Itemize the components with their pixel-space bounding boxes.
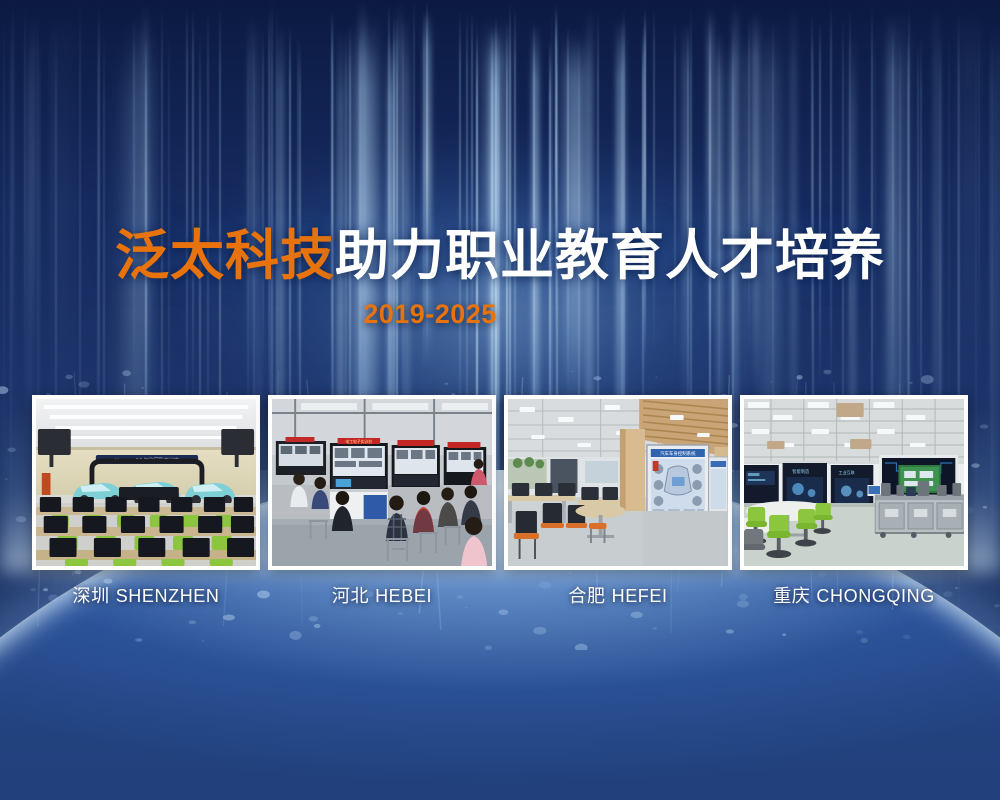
page-title: 泛太科技助力职业教育人才培养 bbox=[0, 228, 1000, 285]
brand-name: 泛太科技 bbox=[115, 226, 335, 286]
caption-hefei: 合肥HEFEI bbox=[504, 582, 732, 608]
photo-card-hefei[interactable]: 汽车车身控制系统 bbox=[504, 395, 732, 570]
caption-en-hefei: HEFEI bbox=[612, 586, 668, 606]
caption-cn-chongqing: 重庆 bbox=[773, 586, 810, 606]
svg-text:工业互联: 工业互联 bbox=[839, 469, 855, 475]
caption-cn-hefei: 合肥 bbox=[568, 586, 605, 606]
photo-card-hebei[interactable]: 电工电子实训台 bbox=[268, 395, 496, 570]
photo-chongqing: 智能制造 工业互联 bbox=[744, 399, 964, 566]
caption-hebei: 河北HEBEI bbox=[268, 582, 496, 608]
photo-hebei: 电工电子实训台 bbox=[272, 399, 492, 566]
svg-text:智能制造: 智能制造 bbox=[792, 468, 810, 475]
svg-text:电工电子实训台: 电工电子实训台 bbox=[345, 439, 372, 444]
caption-cn-hebei: 河北 bbox=[332, 586, 369, 606]
year-range: 2019-2025 bbox=[0, 299, 1000, 330]
caption-en-hebei: HEBEI bbox=[375, 586, 432, 606]
title-block: 泛太科技助力职业教育人才培养 2019-2025 bbox=[0, 228, 1000, 330]
photo-hefei: 汽车车身控制系统 bbox=[508, 399, 728, 566]
photo-card-shenzhen[interactable]: HarmonyOS 智能网联实训室 bbox=[32, 395, 260, 570]
title-tagline: 助力职业教育人才培养 bbox=[335, 226, 885, 286]
promotional-banner: 泛太科技助力职业教育人才培养 2019-2025 bbox=[0, 0, 1000, 800]
caption-en-shenzhen: SHENZHEN bbox=[116, 586, 220, 606]
photo-shenzhen: HarmonyOS 智能网联实训室 bbox=[36, 399, 256, 566]
caption-en-chongqing: CHONGQING bbox=[816, 586, 934, 606]
photo-strip: HarmonyOS 智能网联实训室 bbox=[32, 395, 968, 570]
caption-shenzhen: 深圳SHENZHEN bbox=[32, 582, 260, 608]
caption-row: 深圳SHENZHEN 河北HEBEI 合肥HEFEI 重庆CHONGQING bbox=[32, 582, 968, 608]
svg-text:汽车车身控制系统: 汽车车身控制系统 bbox=[660, 450, 696, 457]
caption-cn-shenzhen: 深圳 bbox=[72, 586, 109, 606]
caption-chongqing: 重庆CHONGQING bbox=[740, 582, 968, 608]
photo-card-chongqing[interactable]: 智能制造 工业互联 bbox=[740, 395, 968, 570]
